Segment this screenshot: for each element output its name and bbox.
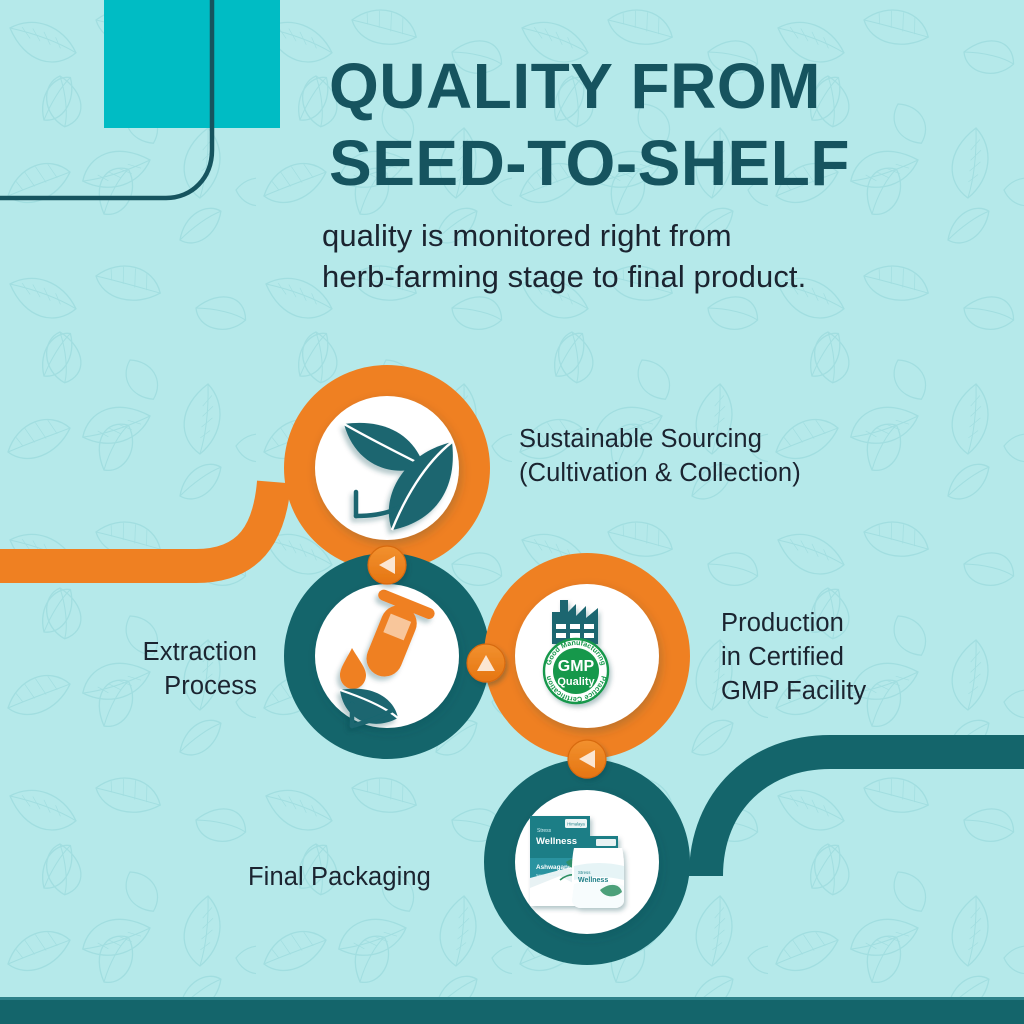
step-label-extraction-process: Extraction Process — [129, 636, 257, 704]
step-label-line2: (Cultivation & Collection) — [519, 457, 801, 491]
page-title-line1: QUALITY FROM — [329, 56, 821, 117]
connector-2-up-arrow[interactable] — [467, 644, 505, 682]
product-box-line2: Wellness — [536, 836, 577, 847]
flow-node-sustainable-sourcing[interactable] — [301, 382, 473, 554]
bottle-label-line2: Wellness — [578, 877, 608, 884]
bottom-bar — [0, 1000, 1024, 1024]
step-label-line2: Process — [129, 670, 257, 704]
flow-node-extraction-process[interactable] — [301, 570, 473, 742]
infographic-canvas: Good Manufacturing Practice Certificatio… — [0, 0, 1024, 1024]
step-label-sustainable-sourcing: Sustainable Sourcing (Cultivation & Coll… — [519, 423, 801, 491]
leaf-logo-icon — [0, 0, 300, 220]
gmp-center-subtitle: Quality — [557, 676, 595, 688]
page-subtitle: quality is monitored right from herb-far… — [322, 215, 806, 297]
step-label-line1: Production — [721, 607, 866, 641]
flow-path-orange-left — [0, 482, 274, 566]
product-brand-logo: Himalaya — [567, 822, 585, 827]
flow-node-final-packaging[interactable]: Stress Wellness Ashwagandha Supports Hea… — [501, 776, 673, 948]
flow-node-gmp-production[interactable]: Good Manufacturing Practice Certificatio… — [501, 570, 673, 742]
step-label-gmp-production: Production in Certified GMP Facility — [721, 607, 866, 709]
step-label-line1: Final Packaging — [248, 861, 431, 895]
step-label-final-packaging: Final Packaging — [248, 861, 431, 895]
bottle-label-line1: Stress — [578, 870, 591, 875]
step-label-line3: GMP Facility — [721, 675, 866, 709]
step-label-line1: Sustainable Sourcing — [519, 423, 801, 457]
page-subtitle-line2: herb-farming stage to final product. — [322, 256, 806, 297]
step-label-line2: in Certified — [721, 641, 866, 675]
page-subtitle-line1: quality is monitored right from — [322, 215, 806, 256]
page-title-line2: SEED-TO-SHELF — [329, 133, 850, 194]
product-box-line1: Stress — [537, 828, 552, 834]
connector-3-left-arrow[interactable] — [568, 740, 606, 778]
connector-1-left-arrow[interactable] — [368, 546, 406, 584]
gmp-center-title: GMP — [558, 658, 595, 675]
step-label-line1: Extraction — [129, 636, 257, 670]
flow-path-teal-right — [706, 752, 1024, 876]
